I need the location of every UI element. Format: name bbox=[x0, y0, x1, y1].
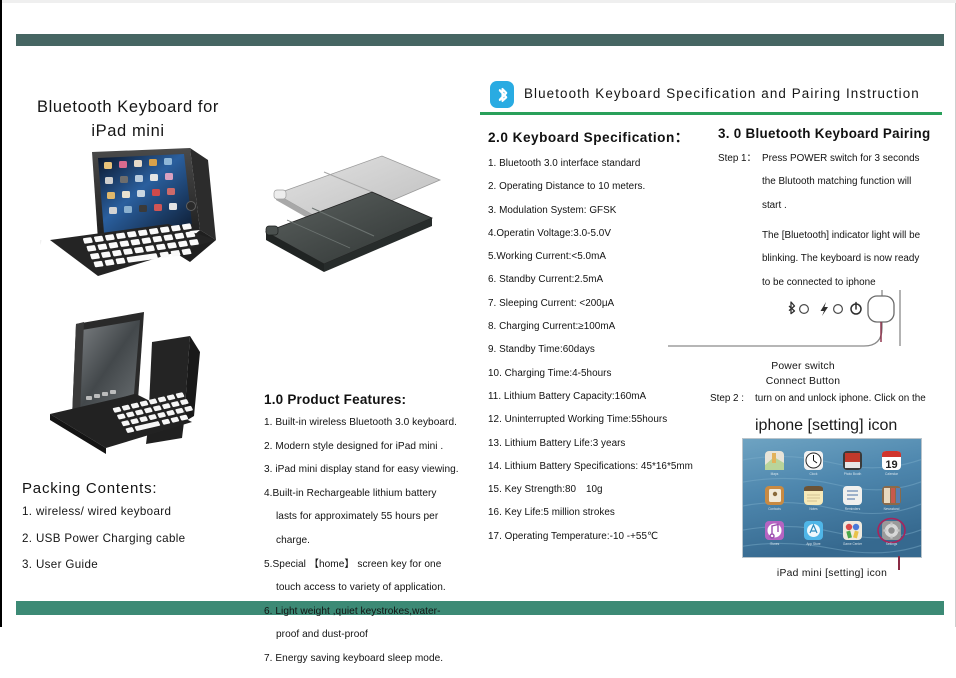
right-panel: Bluetooth Keyboard Specification and Pai… bbox=[480, 78, 942, 588]
list-item: 2. Modern style designed for iPad mini . bbox=[264, 442, 479, 452]
bluetooth-pairing-section: 3. 0 Bluetooth Keyboard Pairing Step 1： … bbox=[718, 126, 942, 301]
page-title: Bluetooth Keyboard for iPad mini bbox=[2, 96, 254, 144]
list-item: 12. Uninterrupted Working Time:55hours bbox=[488, 415, 720, 425]
photo-ipad-in-keyboard-case-open bbox=[40, 144, 240, 294]
svg-text:19: 19 bbox=[885, 459, 897, 471]
list-item: 17. Operating Temperature:-10 -+55℃ bbox=[488, 532, 720, 542]
step-2-row: Step 2 : turn on and unlock iphone. Clic… bbox=[710, 394, 942, 404]
pairing-step-2: Step 2 : turn on and unlock iphone. Clic… bbox=[710, 394, 942, 435]
header-divider-rule bbox=[480, 112, 942, 115]
list-item: 1. Bluetooth 3.0 interface standard bbox=[488, 159, 720, 169]
pairing-step-1: Step 1： Press POWER switch for 3 seconds bbox=[718, 154, 942, 164]
photo-keyboard-case-stand-view bbox=[32, 296, 217, 461]
svg-text:App Store: App Store bbox=[806, 542, 820, 546]
list-item: 6. Standby Current:2.5mA bbox=[488, 275, 720, 285]
list-item-text: 6. Light weight ,quiet keystrokes,water- bbox=[264, 606, 440, 617]
ipad-mini-home-screen: 19 bbox=[742, 438, 922, 558]
power-switch-caption-line1: Power switch bbox=[771, 361, 835, 372]
list-item-text: 5.Special 【home】 screen key for one bbox=[264, 559, 441, 570]
list-item: 4.Operatin Voltage:3.0-5.0V bbox=[488, 229, 720, 239]
list-item: 5.Working Current:<5.0mA bbox=[488, 252, 720, 262]
step-2-text: turn on and unlock iphone. Click on the bbox=[710, 394, 942, 404]
bluetooth-icon bbox=[490, 81, 514, 108]
step-1-cont: blinking. The keyboard is now ready bbox=[718, 254, 942, 264]
list-item: 1. Built-in wireless Bluetooth 3.0 keybo… bbox=[264, 418, 479, 428]
photo-two-folio-cases-closed bbox=[254, 150, 449, 290]
left-column: Bluetooth Keyboard for iPad mini bbox=[2, 56, 254, 596]
svg-text:Newsstand: Newsstand bbox=[884, 507, 900, 511]
step-1-cont: The [Bluetooth] indicator light will be bbox=[718, 231, 942, 241]
power-switch-caption-line2: Connect Button bbox=[766, 376, 840, 387]
list-item: 3. User Guide bbox=[22, 559, 254, 571]
packing-contents-heading: Packing Contents: bbox=[22, 480, 254, 497]
svg-text:Photo Booth: Photo Booth bbox=[844, 472, 862, 476]
list-item: 13. Lithium Battery Life:3 years bbox=[488, 439, 720, 449]
list-item: 16. Key Life:5 million strokes bbox=[488, 508, 720, 518]
list-item: 5.Special 【home】 screen key for one touc… bbox=[264, 560, 479, 594]
step-1-cont: to be connected to iphone bbox=[718, 278, 942, 288]
product-manual-page: Bluetooth Keyboard for iPad mini bbox=[0, 0, 956, 627]
step-1-cont: start . bbox=[718, 201, 942, 211]
svg-text:Calendar: Calendar bbox=[885, 472, 899, 476]
page-title-line1: Bluetooth Keyboard for bbox=[37, 98, 219, 116]
svg-text:Clock: Clock bbox=[810, 472, 818, 476]
bluetooth-pairing-heading: 3. 0 Bluetooth Keyboard Pairing bbox=[718, 126, 942, 141]
list-item: 3. Modulation System: GFSK bbox=[488, 206, 720, 216]
svg-text:Maps: Maps bbox=[771, 472, 779, 476]
list-item: 1. wireless/ wired keyboard bbox=[22, 506, 254, 518]
step-2-label: Step 2 : bbox=[710, 394, 744, 404]
right-panel-header: Bluetooth Keyboard Specification and Pai… bbox=[480, 78, 942, 118]
page-title-line2: iPad mini bbox=[2, 120, 254, 144]
list-item: 6. Light weight ,quiet keystrokes,water-… bbox=[264, 607, 479, 641]
decorative-bar-top bbox=[16, 34, 944, 46]
list-item-cont: touch access to variety of application. bbox=[264, 583, 479, 593]
svg-text:Settings: Settings bbox=[886, 542, 898, 546]
list-item-cont: proof and dust-proof bbox=[264, 630, 479, 640]
product-features-list: 1. Built-in wireless Bluetooth 3.0 keybo… bbox=[264, 418, 479, 664]
svg-text:iTunes: iTunes bbox=[770, 542, 780, 546]
product-features-section: 1.0 Product Features: 1. Built-in wirele… bbox=[264, 392, 479, 678]
page-top-edge bbox=[2, 0, 956, 3]
svg-text:Contacts: Contacts bbox=[768, 507, 781, 511]
step-1-label: Step 1： bbox=[718, 154, 756, 164]
list-item-text: 4.Built-in Rechargeable lithium battery bbox=[264, 488, 437, 499]
step-2-cont: iphone [setting] icon bbox=[710, 417, 942, 435]
decorative-bar-bottom bbox=[16, 601, 944, 615]
step-1-cont: the Blutooth matching function will bbox=[718, 177, 942, 187]
list-item: 3. iPad mini display stand for easy view… bbox=[264, 465, 479, 475]
list-item: 14. Lithium Battery Specifications: 45*1… bbox=[488, 462, 720, 472]
list-item-cont: charge. bbox=[264, 536, 479, 546]
power-switch-caption: Power switch Connect Button bbox=[708, 360, 898, 390]
screenshot-caption: iPad mini [setting] icon bbox=[716, 568, 948, 579]
packing-contents-list: 1. wireless/ wired keyboard 2. USB Power… bbox=[22, 506, 254, 571]
list-item: 4.Built-in Rechargeable lithium battery … bbox=[264, 489, 479, 546]
svg-text:Notes: Notes bbox=[809, 507, 818, 511]
list-item-cont: lasts for approximately 55 hours per bbox=[264, 512, 479, 522]
packing-contents-section: Packing Contents: 1. wireless/ wired key… bbox=[22, 480, 254, 586]
keyboard-specification-heading: 2.0 Keyboard Specification： bbox=[488, 126, 720, 146]
list-item: 2. Operating Distance to 10 meters. bbox=[488, 182, 720, 192]
list-item: 7. Energy saving keyboard sleep mode. bbox=[264, 654, 479, 664]
product-features-heading: 1.0 Product Features: bbox=[264, 392, 479, 407]
list-item: 15. Key Strength:80 10g bbox=[488, 485, 720, 495]
list-item: 2. USB Power Charging cable bbox=[22, 533, 254, 545]
svg-text:Game Center: Game Center bbox=[843, 542, 863, 546]
power-switch-diagram: Power switch Connect Button bbox=[668, 290, 942, 398]
right-panel-title: Bluetooth Keyboard Specification and Pai… bbox=[524, 86, 920, 101]
svg-text:Reminders: Reminders bbox=[845, 507, 861, 511]
